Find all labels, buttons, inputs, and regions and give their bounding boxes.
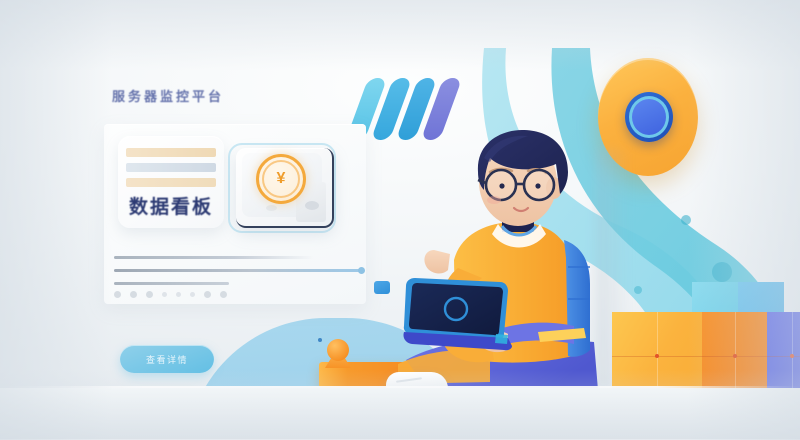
bar-amber-bottom (126, 178, 216, 187)
text-line-2 (114, 269, 362, 272)
block-cyan-mid (738, 282, 784, 312)
laptop[interactable] (400, 276, 520, 356)
illustration-canvas: 服务器监控平台 数据看板 ¥ 查看详情 (0, 0, 800, 440)
bar-gray-mid (126, 163, 216, 172)
block-cyan-light (692, 282, 738, 312)
dot-6[interactable] (190, 292, 195, 297)
dot-2[interactable] (130, 291, 137, 298)
dot-8[interactable] (220, 291, 227, 298)
stats-card-label: 数据看板 (124, 192, 218, 219)
device-card-pip (266, 205, 277, 211)
pagination-dots[interactable] (114, 291, 227, 298)
cta-button[interactable]: 查看详情 (120, 345, 214, 373)
dot-4[interactable] (162, 292, 167, 297)
stats-card[interactable]: 数据看板 (118, 136, 224, 228)
block-orange (702, 312, 767, 390)
device-card[interactable]: ¥ (232, 146, 336, 232)
dial-inner-circle (625, 92, 673, 142)
stacked-color-blocks (600, 300, 800, 390)
text-line-3 (114, 282, 229, 285)
dot-7[interactable] (204, 291, 211, 298)
dial-ring-cyan (629, 96, 669, 138)
floor-edge-highlight (0, 386, 800, 388)
floor (0, 388, 800, 440)
page-title: 服务器监控平台 (112, 86, 224, 105)
dot-5[interactable] (176, 292, 181, 297)
block-indigo (767, 312, 800, 390)
dome-dot (318, 338, 322, 342)
device-card-body: ¥ (236, 148, 334, 228)
seated-person-with-laptop (398, 128, 630, 408)
bar-amber-top (126, 148, 216, 157)
device-card-knob (305, 201, 319, 210)
text-line-1 (114, 256, 314, 259)
dot-3[interactable] (146, 291, 153, 298)
brand-chevron-logo (357, 78, 467, 150)
dial-core-blue (632, 99, 666, 135)
orange-pawn-marker (327, 339, 349, 361)
coin-badge: ¥ (256, 154, 306, 204)
dot-1[interactable] (114, 291, 121, 298)
mini-blue-square (374, 281, 390, 294)
